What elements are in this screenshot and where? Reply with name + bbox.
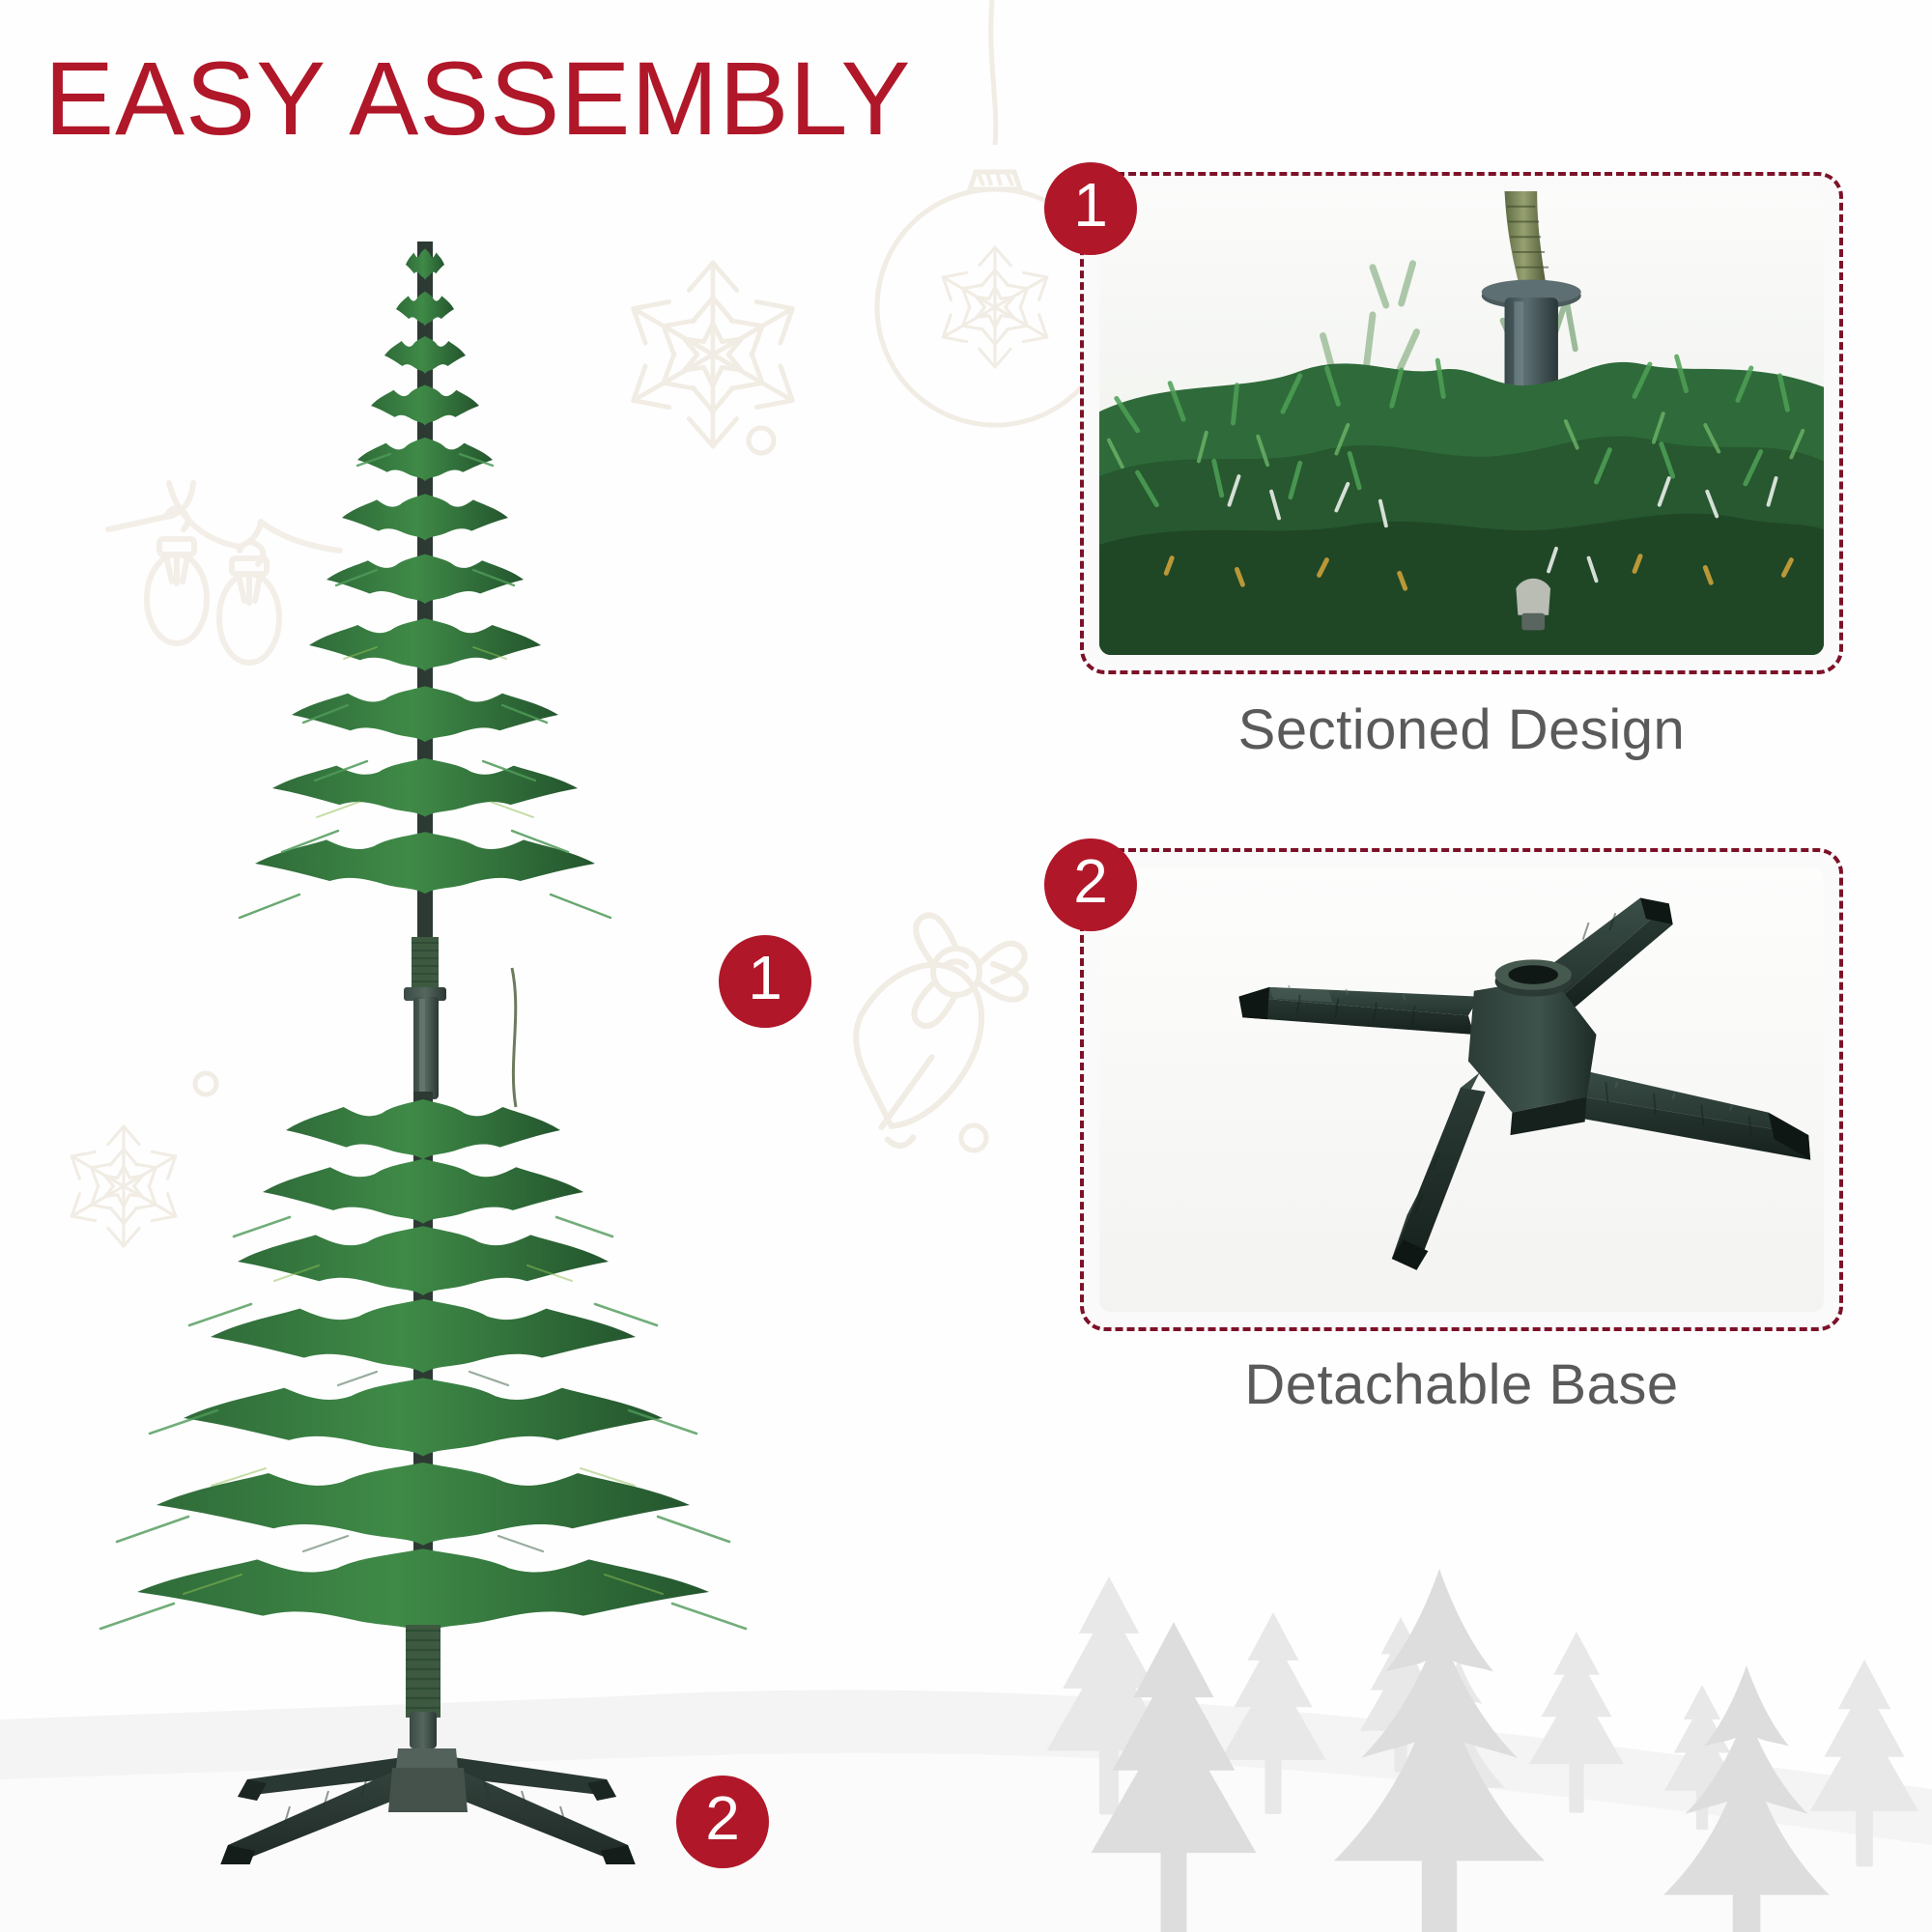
panel-marker-2[interactable]: 2 [1044,838,1137,931]
tree-upper-section [240,241,611,976]
panel-caption-detachable-base: Detachable Base [1080,1352,1843,1417]
page-title: EASY ASSEMBLY [44,46,911,151]
tree-stand [218,1748,638,1864]
detachable-cross-base-photo [1099,867,1824,1312]
hero-marker-1[interactable]: 1 [719,935,811,1028]
bell-dot-icon [961,1125,986,1151]
panel-caption-sectioned-design: Sectioned Design [1080,697,1843,762]
feature-panel-sectioned-design [1080,172,1843,674]
infographic-canvas: EASY ASSEMBLY [0,0,1932,1932]
bell-icon [838,915,1025,1149]
feature-panel-detachable-base [1080,848,1843,1331]
panel-marker-1[interactable]: 1 [1044,162,1137,255]
hero-marker-2[interactable]: 2 [676,1776,769,1868]
sectioned-pole-joint-photo [1099,191,1824,655]
artificial-christmas-tree-hero [58,164,811,1864]
tree-section-joint [404,937,516,1107]
tree-lower-section [100,1092,746,1748]
